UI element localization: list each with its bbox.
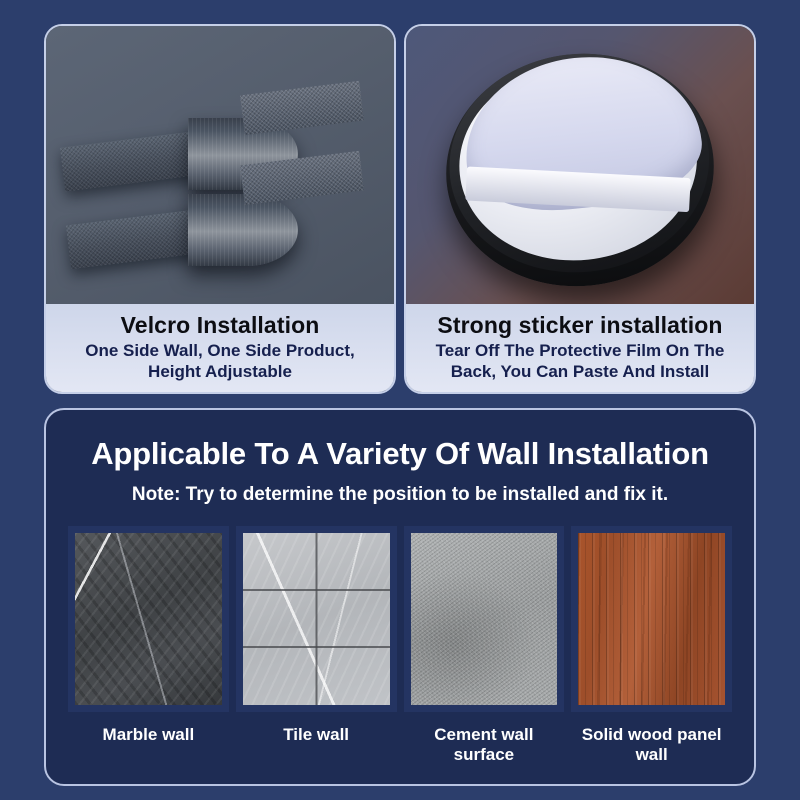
panel-title: Applicable To A Variety Of Wall Installa… (46, 436, 754, 472)
velcro-installation-card: Velcro Installation One Side Wall, One S… (44, 24, 396, 394)
sticker-caption: Strong sticker installation Tear Off The… (406, 304, 754, 392)
infographic-page: Velcro Installation One Side Wall, One S… (0, 0, 800, 800)
velcro-strip-loop-lower (188, 194, 298, 266)
swatch-cell-tile (236, 526, 397, 712)
tile-wall-swatch (243, 533, 390, 705)
label-wood-panel-wall: Solid wood panel wall (571, 725, 732, 764)
wall-types-panel: Applicable To A Variety Of Wall Installa… (44, 408, 756, 786)
sticker-installation-card: Strong sticker installation Tear Off The… (404, 24, 756, 394)
adhesive-disc-photo (406, 26, 754, 304)
swatch-cell-marble (68, 526, 229, 712)
swatch-cell-cement (404, 526, 565, 712)
panel-note: Note: Try to determine the position to b… (46, 484, 754, 506)
velcro-subtitle: One Side Wall, One Side Product, Height … (58, 341, 382, 382)
wall-label-row: Marble wall Tile wall Cement wall surfac… (68, 725, 732, 764)
velcro-strips-photo (46, 26, 394, 304)
wall-swatch-row (68, 526, 732, 712)
marble-wall-swatch (75, 533, 222, 705)
installation-methods-row: Velcro Installation One Side Wall, One S… (44, 24, 756, 394)
label-cement-wall: Cement wall surface (404, 725, 565, 764)
velcro-caption: Velcro Installation One Side Wall, One S… (46, 304, 394, 392)
sticker-title: Strong sticker installation (418, 312, 742, 338)
adhesive-disc (435, 41, 726, 300)
sticker-subtitle: Tear Off The Protective Film On The Back… (418, 341, 742, 382)
label-marble-wall: Marble wall (68, 725, 229, 764)
swatch-cell-wood (571, 526, 732, 712)
cement-wall-swatch (411, 533, 558, 705)
velcro-title: Velcro Installation (58, 312, 382, 338)
label-tile-wall: Tile wall (236, 725, 397, 764)
wood-panel-wall-swatch (578, 533, 725, 705)
